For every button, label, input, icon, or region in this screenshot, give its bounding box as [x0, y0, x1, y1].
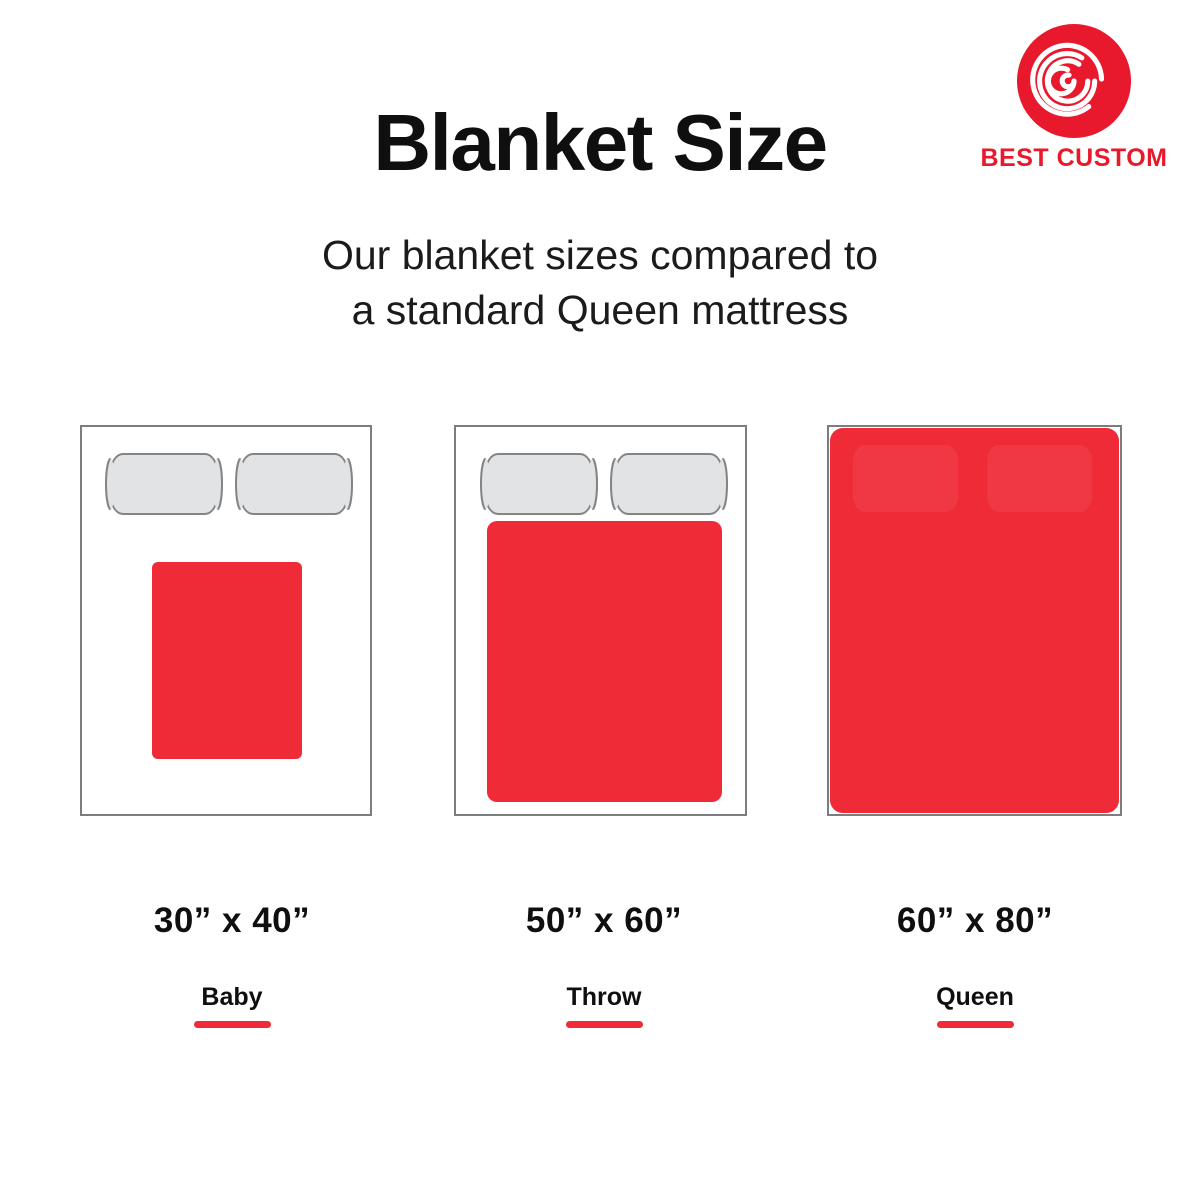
- size-name-label: Throw: [434, 985, 774, 1010]
- pillow-left: [109, 453, 219, 515]
- page-subtitle: Our blanket sizes compared to a standard…: [0, 228, 1200, 337]
- blanket-queen-overlay: [829, 427, 1120, 814]
- pillow-left: [484, 453, 594, 515]
- bed-diagram-throw: [454, 425, 747, 816]
- bed-diagram-queen: [827, 425, 1122, 816]
- caption-baby: 30” x 40” Baby: [62, 903, 402, 1028]
- accent-underline: [566, 1021, 643, 1028]
- blanket-baby: [152, 562, 302, 759]
- page-title: Blanket Size: [0, 103, 1200, 183]
- size-name-label: Baby: [62, 985, 402, 1010]
- size-name-label: Queen: [805, 985, 1145, 1010]
- caption-queen: 60” x 80” Queen: [805, 903, 1145, 1028]
- accent-underline: [937, 1021, 1014, 1028]
- blanket-throw: [487, 521, 722, 802]
- accent-underline: [194, 1021, 271, 1028]
- dimensions-label: 30” x 40”: [62, 903, 402, 938]
- caption-throw: 50” x 60” Throw: [434, 903, 774, 1028]
- bed-diagram-baby: [80, 425, 372, 816]
- subtitle-line-1: Our blanket sizes compared to: [0, 228, 1200, 283]
- pillow-right: [239, 453, 349, 515]
- pillow-right: [614, 453, 724, 515]
- dimensions-label: 50” x 60”: [434, 903, 774, 938]
- dimensions-label: 60” x 80”: [805, 903, 1145, 938]
- subtitle-line-2: a standard Queen mattress: [0, 283, 1200, 338]
- infographic-canvas: BEST CUSTOM Blanket Size Our blanket siz…: [0, 0, 1200, 1200]
